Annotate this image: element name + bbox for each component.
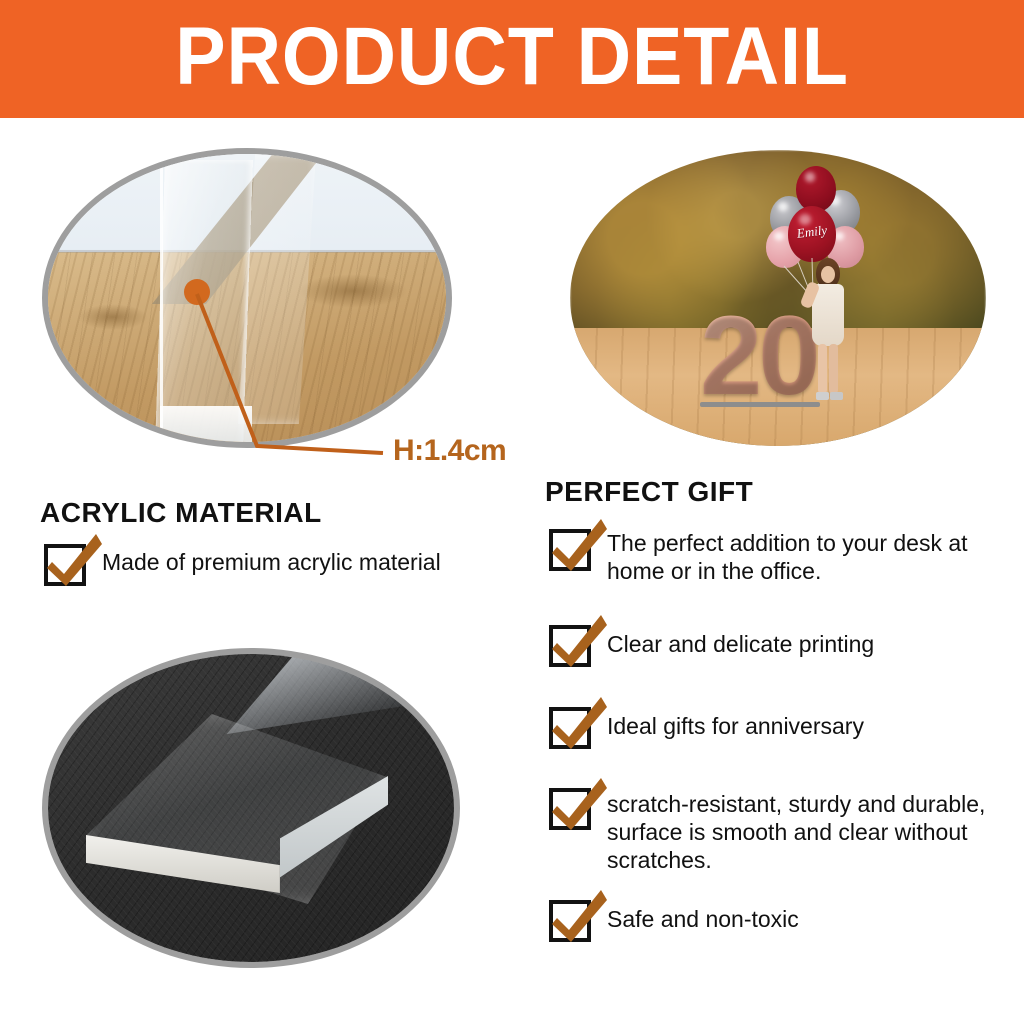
check-glyph xyxy=(549,888,611,950)
number-balloons: 20 xyxy=(700,300,817,412)
dimension-label: H:1.4cm xyxy=(393,434,506,468)
checkbox-checked-icon[interactable] xyxy=(44,544,86,586)
checkbox-checked-icon[interactable] xyxy=(549,625,591,667)
section-title-perfect-gift: PERFECT GIFT xyxy=(545,476,753,508)
woman-figure xyxy=(802,258,858,406)
leg xyxy=(818,344,827,394)
wood-knot xyxy=(298,274,408,308)
acrylic-flat-image xyxy=(42,648,460,968)
feature-item: scratch-resistant, sturdy and durable, s… xyxy=(549,788,1009,874)
checkbox-checked-icon[interactable] xyxy=(549,788,591,830)
leg xyxy=(829,344,838,394)
shoe xyxy=(816,392,829,400)
check-glyph xyxy=(549,776,611,838)
acrylic-edge-highlight xyxy=(160,162,163,448)
face xyxy=(821,266,835,283)
feature-text: scratch-resistant, sturdy and durable, s… xyxy=(607,790,1009,874)
check-glyph xyxy=(44,532,106,594)
feature-text: Made of premium acrylic material xyxy=(102,548,441,576)
feature-item: Made of premium acrylic material xyxy=(44,544,514,586)
checkbox-checked-icon[interactable] xyxy=(549,529,591,571)
checkbox-checked-icon[interactable] xyxy=(549,707,591,749)
shoe xyxy=(830,392,843,400)
dimension-dot-marker xyxy=(184,279,210,305)
feature-item: Safe and non-toxic xyxy=(549,900,1004,942)
feature-item: Ideal gifts for anniversary xyxy=(549,707,1004,749)
check-glyph xyxy=(549,613,611,675)
feature-text: Clear and delicate printing xyxy=(607,630,874,658)
feature-text: Safe and non-toxic xyxy=(607,905,799,933)
acrylic-base-glow xyxy=(160,406,252,448)
check-glyph xyxy=(549,517,611,579)
product-detail-page: PRODUCT DETAIL H:1.4cm Emily xyxy=(0,0,1024,1024)
feature-text: The perfect addition to your desk at hom… xyxy=(607,529,1004,585)
feature-item: Clear and delicate printing xyxy=(549,625,1004,667)
check-glyph xyxy=(549,695,611,757)
acrylic-edge-image xyxy=(42,148,452,448)
page-title: PRODUCT DETAIL xyxy=(175,16,849,98)
header-banner: PRODUCT DETAIL xyxy=(0,0,1024,118)
acrylic-front-face xyxy=(155,160,253,448)
balloon-lifestyle-image: Emily 20 xyxy=(570,150,986,446)
wood-floor-scene xyxy=(48,154,446,442)
section-title-acrylic-material: ACRYLIC MATERIAL xyxy=(40,497,322,529)
wood-knot xyxy=(78,304,148,330)
checkbox-checked-icon[interactable] xyxy=(549,900,591,942)
feature-text: Ideal gifts for anniversary xyxy=(607,712,864,740)
feature-item: The perfect addition to your desk at hom… xyxy=(549,529,1004,585)
